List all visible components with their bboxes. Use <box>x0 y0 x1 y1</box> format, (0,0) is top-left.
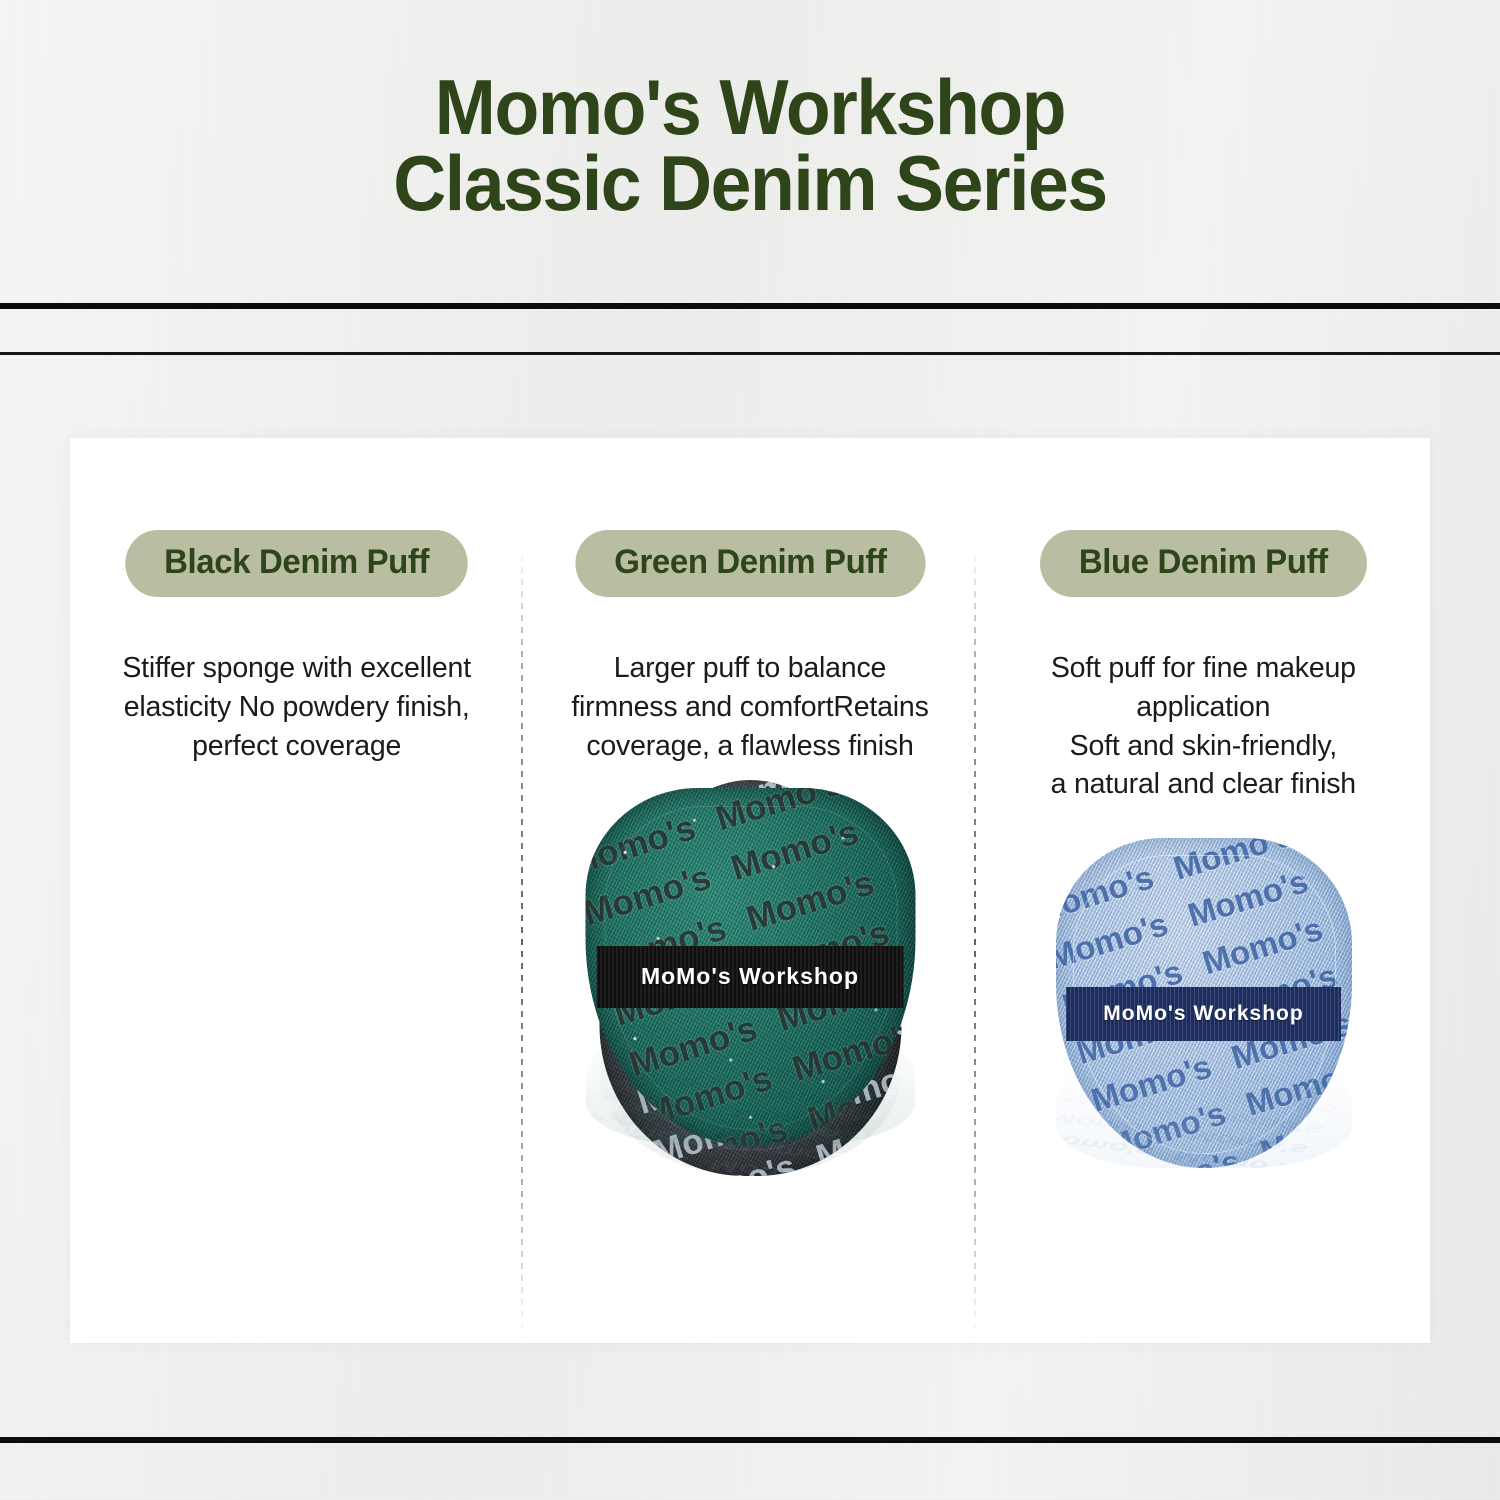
title-line-2: Classic Denim Series <box>45 146 1455 222</box>
divider-rule-bottom <box>0 1437 1500 1443</box>
product-description-black: Stiffer sponge with excellent elasticity… <box>111 649 483 765</box>
product-badge-black: Black Denim Puff <box>125 530 468 597</box>
product-column-green[interactable]: Green Denim Puff Larger puff to balance … <box>523 438 976 1343</box>
product-columns: Black Denim Puff Stiffer sponge with exc… <box>70 438 1430 1343</box>
product-description-blue: Soft puff for fine makeup application So… <box>1017 649 1389 804</box>
product-column-black[interactable]: Black Denim Puff Stiffer sponge with exc… <box>70 438 523 1343</box>
divider-rule-top-thin <box>0 352 1500 355</box>
product-description-green: Larger puff to balance firmness and comf… <box>564 649 936 765</box>
product-comparison-card: Black Denim Puff Stiffer sponge with exc… <box>70 438 1430 1343</box>
column-divider-2 <box>974 543 976 1343</box>
column-divider-1 <box>521 543 523 1343</box>
title-line-1: Momo's Workshop <box>45 70 1455 146</box>
product-badge-blue: Blue Denim Puff <box>1040 530 1366 597</box>
divider-rule-top-thick <box>0 303 1500 309</box>
product-badge-green: Green Denim Puff <box>575 530 925 597</box>
product-column-blue[interactable]: Blue Denim Puff Soft puff for fine makeu… <box>977 438 1430 1343</box>
page-title: Momo's Workshop Classic Denim Series <box>0 70 1500 221</box>
